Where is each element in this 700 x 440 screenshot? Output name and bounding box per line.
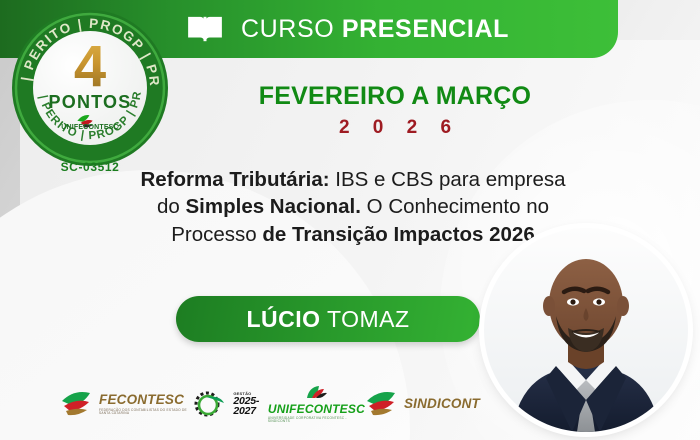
title-segment-1: IBS e CBS para (330, 168, 480, 191)
header-title-bold: PRESENCIAL (342, 15, 509, 43)
points-seal: AUD | PERITO | PROGP | PRORT AUD | PERIT… (10, 8, 170, 168)
logo-sindicont: SINDICONT (365, 391, 480, 417)
svg-text:UNIFECONTESC: UNIFECONTESC (61, 124, 119, 131)
title-segment-bold-4: Transição Impactos 2026 (292, 223, 535, 246)
logo-fecontesc: FECONTESC FEDERAÇÃO DOS CONTABILISTAS DO… (60, 391, 193, 417)
fecontesc-subtitle: FEDERAÇÃO DOS CONTABILISTAS DO ESTADO DE… (99, 409, 193, 415)
sindicont-text: SINDICONT (404, 397, 480, 411)
seal-graphic: AUD | PERITO | PROGP | PRORT AUD | PERIT… (10, 8, 170, 168)
date-months: FEVEREIRO A MARÇO (186, 82, 604, 111)
date-year: 2 0 2 6 (186, 117, 604, 139)
open-book-icon (186, 14, 224, 44)
speaker-portrait-image (484, 228, 688, 432)
svg-text:4: 4 (74, 34, 106, 99)
header-title: CURSO PRESENCIAL (241, 15, 509, 44)
title-segment-bold-3: de (262, 223, 286, 246)
unifecontesc-subtitle: UNIVERSIDADE CORPORATIVA FECONTESC - SIN… (268, 417, 365, 423)
seal-code: SC-03512 (10, 160, 170, 174)
speaker-name: LÚCIO TOMAZ (246, 306, 409, 333)
svg-text:PONTOS: PONTOS (49, 92, 132, 112)
title-segment-bold-2: Simples Nacional. (186, 195, 361, 218)
fecontesc-text: FECONTESC FEDERAÇÃO DOS CONTABILISTAS DO… (99, 393, 193, 415)
course-title: Reforma Tributária: IBS e CBS para empre… (128, 166, 578, 248)
fecontesc-name: FECONTESC (99, 393, 193, 407)
partner-logos: FECONTESC FEDERAÇÃO DOS CONTABILISTAS DO… (60, 382, 480, 426)
course-poster: CURSO PRESENCIAL AUD | PER (0, 0, 700, 440)
gestao-text: GESTÃO 2025-2027 (233, 392, 267, 417)
gestao-gear-icon (193, 389, 227, 419)
unifecontesc-text: UNIFECONTESC UNIVERSIDADE CORPORATIVA FE… (268, 403, 365, 423)
date-block: FEVEREIRO A MARÇO 2 0 2 6 (186, 82, 604, 139)
fecontesc-mark-icon (60, 391, 94, 417)
sindicont-mark-icon (365, 391, 399, 417)
title-segment-3: O (361, 195, 383, 218)
sindicont-name: SINDICONT (404, 397, 480, 411)
unifecontesc-mark-icon (301, 385, 331, 401)
speaker-portrait (484, 228, 688, 432)
speaker-name-banner: LÚCIO TOMAZ (176, 296, 480, 342)
gestao-years: 2025-2027 (233, 396, 267, 417)
header-title-regular: CURSO (241, 15, 342, 43)
logo-unifecontesc: UNIFECONTESC UNIVERSIDADE CORPORATIVA FE… (268, 385, 365, 423)
speaker-first-name: LÚCIO (246, 306, 320, 332)
logo-gestao: GESTÃO 2025-2027 (193, 389, 267, 419)
speaker-last-name: TOMAZ (321, 306, 410, 332)
unifecontesc-name: UNIFECONTESC (268, 403, 365, 415)
